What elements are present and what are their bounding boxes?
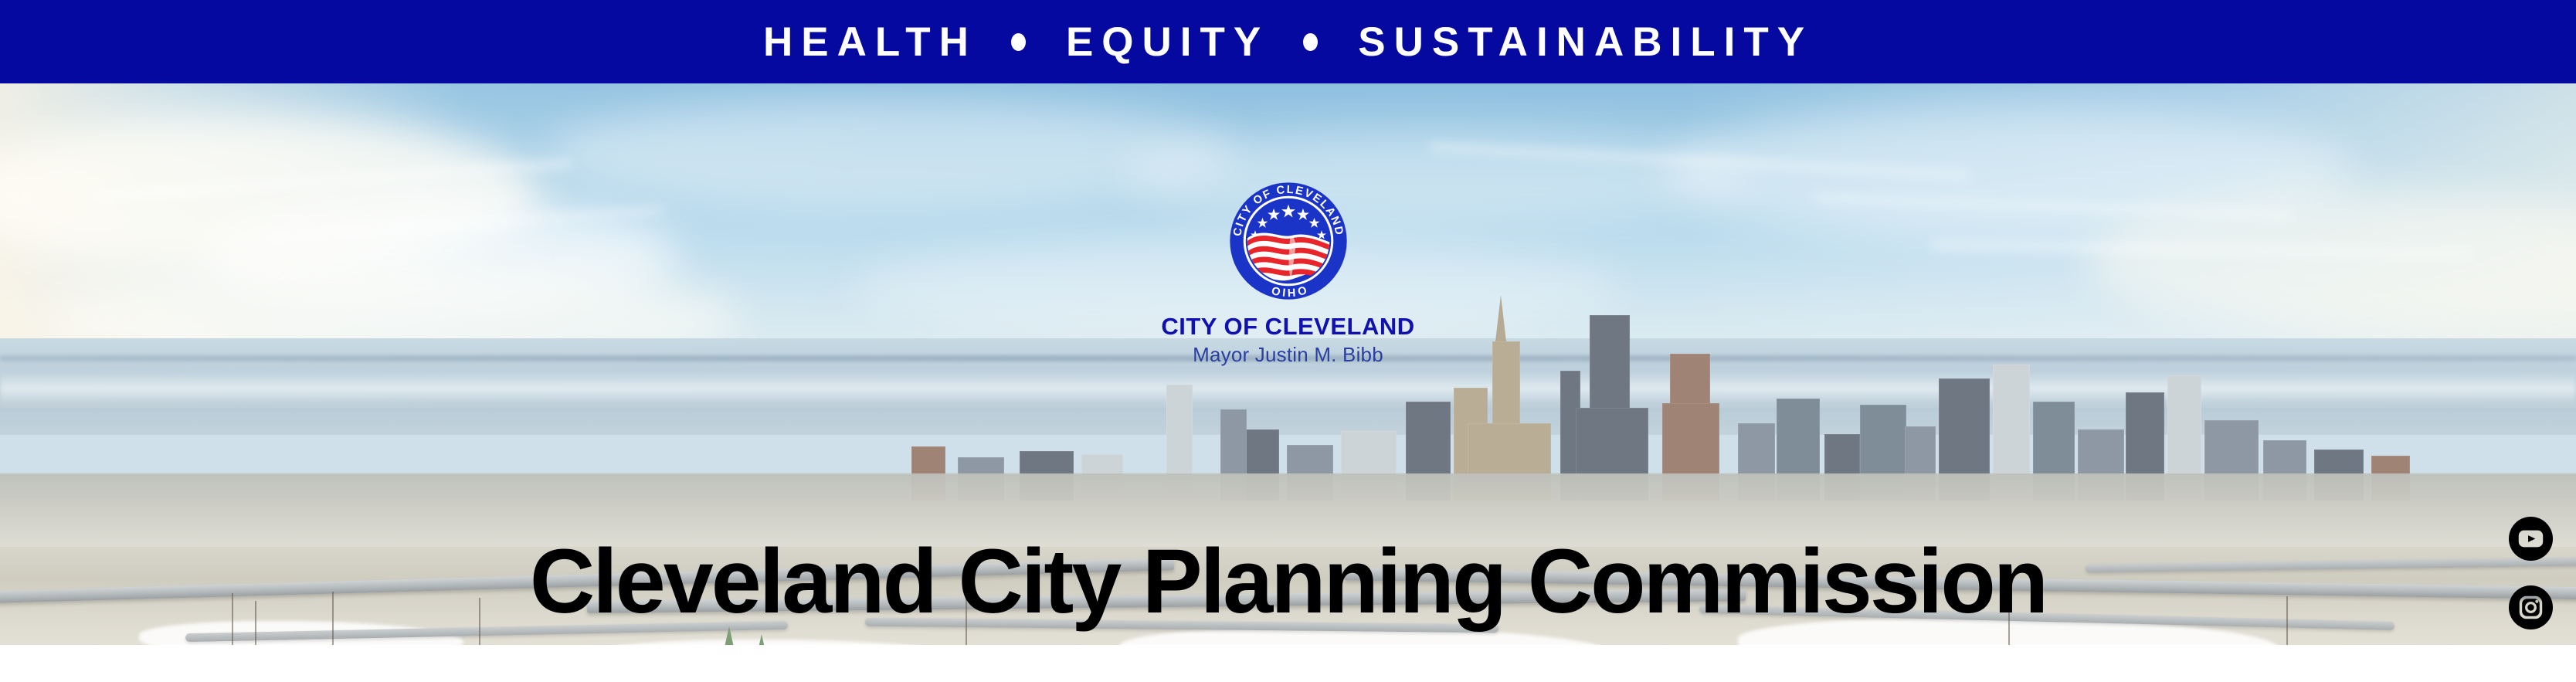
bottom-white-strip	[0, 645, 2576, 682]
bullet-dot-icon-1	[1011, 33, 1026, 51]
tagline-word-equity: EQUITY	[1066, 22, 1269, 63]
instagram-link[interactable]	[2508, 585, 2554, 630]
terminal-tower-spire	[1495, 295, 1506, 341]
hero-photo: CITY OF CLEVELAND OHIO CITY OF CLEVELAND…	[0, 83, 2576, 645]
snow-patch	[587, 640, 989, 645]
page-root: HEALTH EQUITY SUSTAINABILITY	[0, 0, 2576, 682]
city-name-label: CITY OF CLEVELAND	[1088, 314, 1489, 340]
mayor-name-label: Mayor Justin M. Bibb	[1088, 344, 1489, 367]
city-of-cleveland-seal-icon: CITY OF CLEVELAND OHIO	[1222, 175, 1355, 307]
city-branding-block: CITY OF CLEVELAND OHIO CITY OF CLEVELAND…	[1088, 175, 1489, 367]
social-links-rail	[2506, 516, 2554, 645]
youtube-link[interactable]	[2508, 516, 2554, 562]
tagline-words: HEALTH EQUITY SUSTAINABILITY	[763, 22, 1813, 63]
instagram-icon	[2508, 585, 2552, 629]
tagline-word-health: HEALTH	[763, 22, 977, 63]
church-spire	[755, 634, 769, 645]
youtube-icon	[2508, 517, 2552, 561]
tagline-banner: HEALTH EQUITY SUSTAINABILITY	[0, 0, 2576, 83]
bullet-dot-icon-2	[1303, 33, 1318, 51]
tagline-word-sustainability: SUSTAINABILITY	[1358, 22, 1813, 63]
page-title: Cleveland City Planning Commission	[13, 536, 2564, 627]
